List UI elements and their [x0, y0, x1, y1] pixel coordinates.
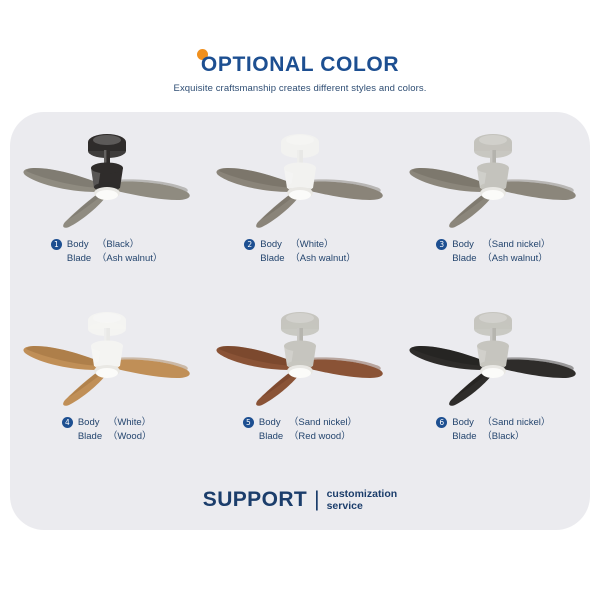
ceiling-fan-illustration	[403, 120, 583, 232]
product-label: 5 Body（Sand nickel） Blade（Red wood）	[203, 416, 396, 443]
ceiling-fan-illustration	[17, 120, 197, 232]
product-card[interactable]: 2 Body（White） Blade（Ash walnut）	[203, 120, 396, 298]
product-label: 1 Body（Black） Blade（Ash walnut）	[10, 238, 203, 265]
blade-key: Blade	[452, 252, 482, 266]
product-spec-text: Body（White） Blade（Wood）	[78, 416, 152, 443]
body-value: （White）	[290, 239, 333, 250]
product-image	[203, 120, 396, 232]
blade-key: Blade	[67, 252, 97, 266]
body-value: （Sand nickel）	[482, 239, 550, 250]
body-key: Body	[452, 238, 482, 252]
body-key: Body	[452, 416, 482, 430]
body-value: （White）	[108, 417, 151, 428]
body-value: （Black）	[97, 239, 139, 250]
support-divider: |	[314, 488, 319, 512]
product-image	[10, 298, 203, 410]
ceiling-fan-illustration	[403, 298, 583, 410]
product-card[interactable]: 1 Body（Black） Blade（Ash walnut）	[10, 120, 203, 298]
support-footer: SUPPORT | customization service	[0, 488, 600, 512]
product-card[interactable]: 6 Body（Sand nickel） Blade（Black）	[397, 298, 590, 476]
blade-key: Blade	[259, 430, 289, 444]
blade-value: （Wood）	[108, 431, 152, 442]
product-number-badge: 4	[62, 417, 73, 428]
title-group: OPTIONAL COLOR	[201, 54, 399, 75]
blade-key: Blade	[78, 430, 108, 444]
ceiling-fan-illustration	[17, 298, 197, 410]
support-sublabel: customization service	[327, 488, 398, 512]
product-card[interactable]: 5 Body（Sand nickel） Blade（Red wood）	[203, 298, 396, 476]
product-label: 2 Body（White） Blade（Ash walnut）	[203, 238, 396, 265]
ceiling-fan-illustration	[210, 120, 390, 232]
product-spec-text: Body（Sand nickel） Blade（Red wood）	[259, 416, 357, 443]
page-header: OPTIONAL COLOR Exquisite craftsmanship c…	[0, 54, 600, 94]
product-spec-text: Body（White） Blade（Ash walnut）	[260, 238, 355, 265]
body-value: （Sand nickel）	[482, 417, 550, 428]
body-key: Body	[259, 416, 289, 430]
body-key: Body	[78, 416, 108, 430]
blade-value: （Ash walnut）	[290, 253, 355, 264]
product-label: 4 Body（White） Blade（Wood）	[10, 416, 203, 443]
body-value: （Sand nickel）	[289, 417, 357, 428]
support-label: SUPPORT	[203, 488, 307, 512]
support-sub-line-2: service	[327, 500, 363, 512]
product-image	[397, 298, 590, 410]
ceiling-fan-illustration	[210, 298, 390, 410]
product-number-badge: 1	[51, 239, 62, 250]
product-number-badge: 6	[436, 417, 447, 428]
product-number-badge: 3	[436, 239, 447, 250]
product-card[interactable]: 3 Body（Sand nickel） Blade（Ash walnut）	[397, 120, 590, 298]
product-spec-text: Body（Black） Blade（Ash walnut）	[67, 238, 162, 265]
blade-value: （Ash walnut）	[482, 253, 547, 264]
product-card[interactable]: 4 Body（White） Blade（Wood）	[10, 298, 203, 476]
blade-value: （Red wood）	[289, 431, 351, 442]
blade-value: （Ash walnut）	[97, 253, 162, 264]
page-title: OPTIONAL COLOR	[201, 53, 399, 76]
product-image	[203, 298, 396, 410]
product-label: 6 Body（Sand nickel） Blade（Black）	[397, 416, 590, 443]
page-subtitle: Exquisite craftsmanship creates differen…	[0, 83, 600, 94]
blade-value: （Black）	[482, 431, 524, 442]
product-image	[397, 120, 590, 232]
blade-key: Blade	[452, 430, 482, 444]
support-sub-line-1: customization	[327, 488, 398, 500]
product-grid: 1 Body（Black） Blade（Ash walnut）	[10, 120, 590, 476]
product-label: 3 Body（Sand nickel） Blade（Ash walnut）	[397, 238, 590, 265]
body-key: Body	[67, 238, 97, 252]
product-spec-text: Body（Sand nickel） Blade（Black）	[452, 416, 550, 443]
body-key: Body	[260, 238, 290, 252]
product-spec-text: Body（Sand nickel） Blade（Ash walnut）	[452, 238, 550, 265]
blade-key: Blade	[260, 252, 290, 266]
product-number-badge: 5	[243, 417, 254, 428]
product-image	[10, 120, 203, 232]
product-panel: 1 Body（Black） Blade（Ash walnut）	[10, 112, 590, 530]
product-number-badge: 2	[244, 239, 255, 250]
